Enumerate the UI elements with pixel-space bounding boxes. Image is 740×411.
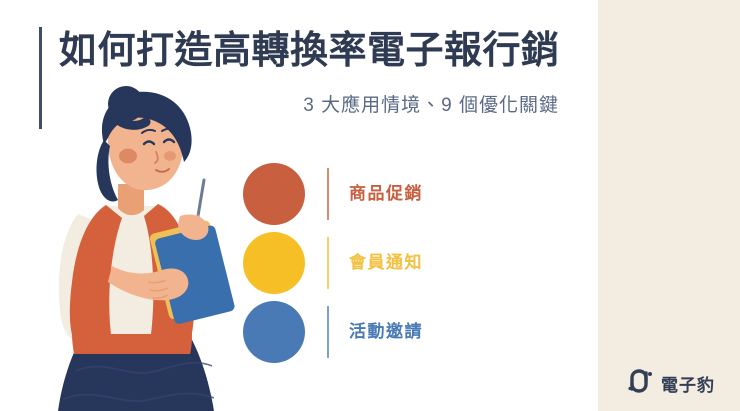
slide-canvas: 如何打造高轉換率電子報行銷 3 大應用情境、9 個優化關鍵 商品促銷 會員通知 … [0, 0, 740, 411]
woman-with-clipboard-illustration [52, 86, 248, 411]
bullet-divider [327, 237, 329, 289]
list-item: 活動邀請 [243, 301, 533, 370]
bullet-label: 活動邀請 [349, 317, 423, 342]
brand-name: 電子豹 [661, 371, 715, 396]
page-title: 如何打造高轉換率電子報行銷 [59, 26, 579, 76]
bullet-dot-icon [243, 301, 305, 363]
bullet-label: 會員通知 [349, 248, 423, 273]
right-accent-panel [598, 0, 740, 411]
page-subtitle: 3 大應用情境、9 個優化關鍵 [59, 92, 559, 120]
bullet-divider [327, 168, 329, 220]
ndesign-monogram-icon [628, 369, 654, 398]
bullet-dot-icon [243, 163, 305, 225]
title-accent-rule [39, 27, 42, 129]
list-item: 會員通知 [243, 232, 533, 301]
bullet-dot-icon [243, 232, 305, 294]
list-item: 商品促銷 [243, 163, 533, 232]
bullet-list: 商品促銷 會員通知 活動邀請 [243, 163, 533, 370]
bullet-label: 商品促銷 [349, 179, 423, 204]
brand-logo: 電子豹 [628, 369, 715, 398]
bullet-divider [327, 306, 329, 358]
